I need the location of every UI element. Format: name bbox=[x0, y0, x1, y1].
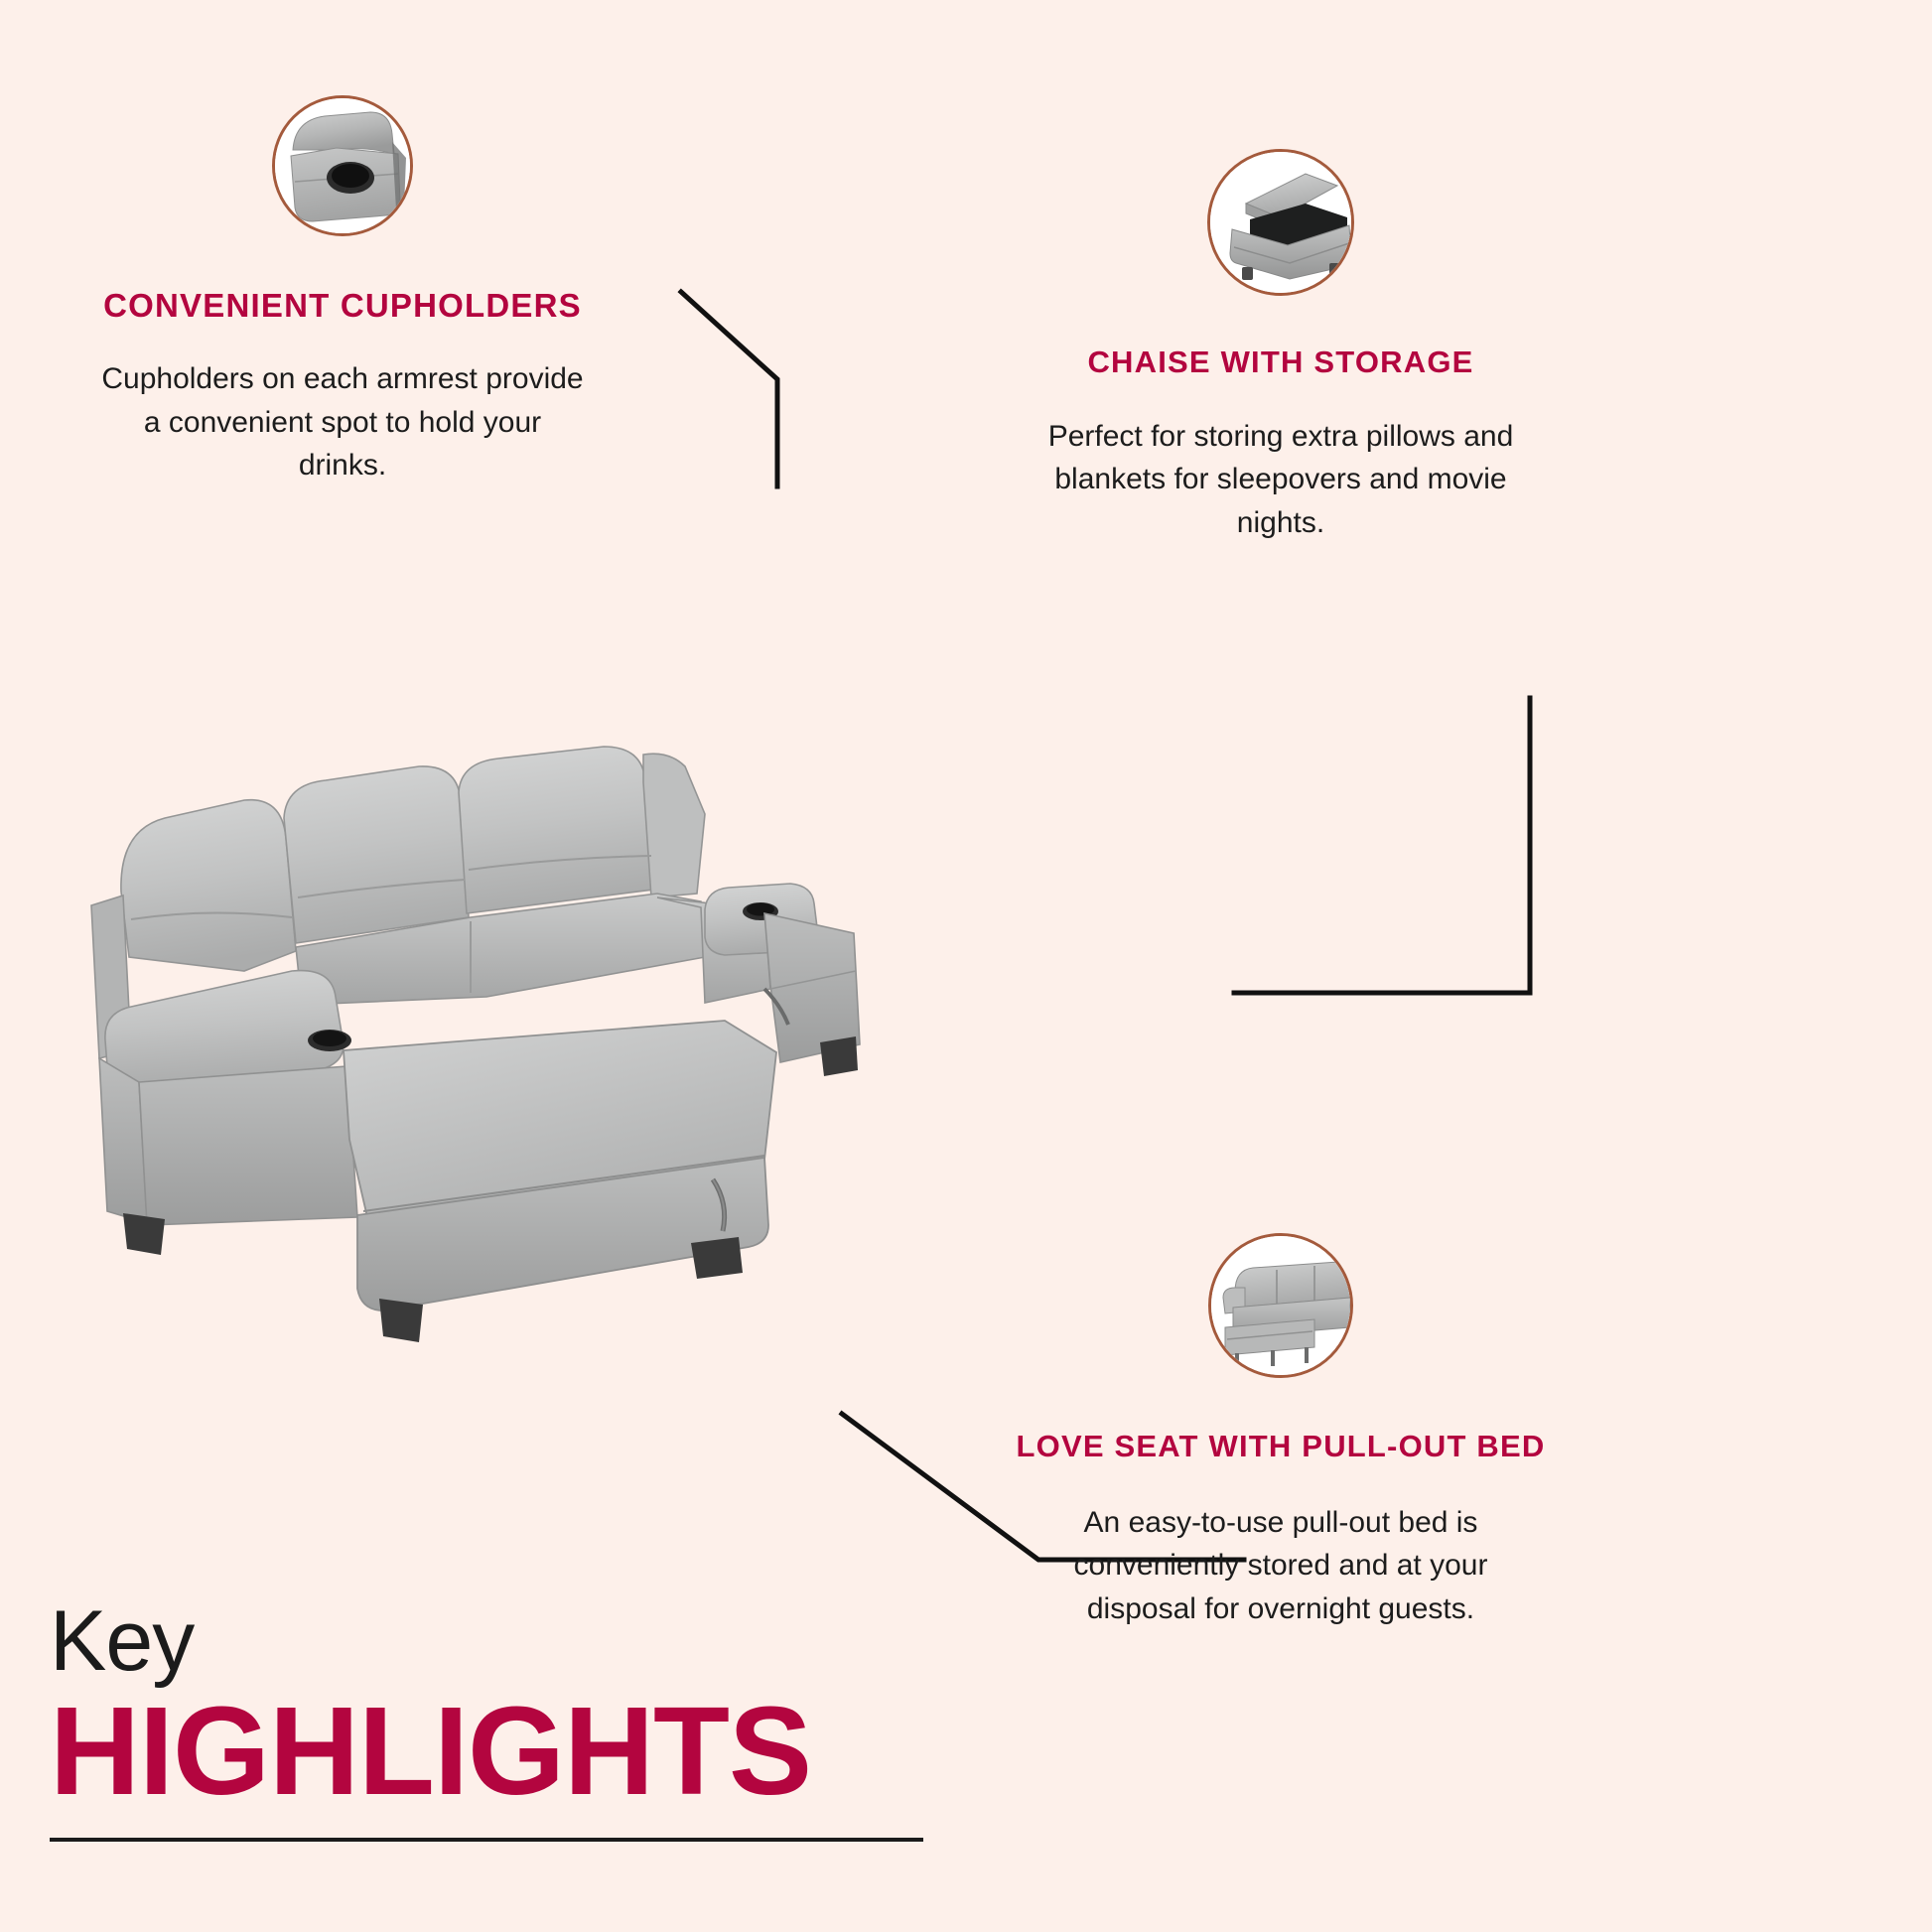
page-title: Key HIGHLIGHTS bbox=[50, 1600, 973, 1842]
infographic-canvas: CONVENIENT CUPHOLDERS Cupholders on each… bbox=[0, 0, 1932, 1932]
feature-body-cupholders: Cupholders on each armrest provide a con… bbox=[60, 357, 625, 487]
feature-body-chaise: Perfect for storing extra pillows and bl… bbox=[1003, 415, 1559, 545]
title-divider bbox=[50, 1838, 923, 1842]
page-title-line-highlights: HIGHLIGHTS bbox=[50, 1689, 973, 1814]
feature-body-pullout: An easy-to-use pull-out bed is convenien… bbox=[1003, 1501, 1559, 1631]
connector-cupholders bbox=[681, 292, 777, 486]
feature-title-cupholders: CONVENIENT CUPHOLDERS bbox=[60, 286, 625, 326]
grey-sectional-sleeper-sofa-image bbox=[69, 723, 983, 1418]
feature-chaise-storage: CHAISE WITH STORAGE Perfect for storing … bbox=[1003, 149, 1559, 544]
chaise-open-storage-icon bbox=[1207, 149, 1354, 296]
feature-title-chaise: CHAISE WITH STORAGE bbox=[1003, 344, 1559, 381]
feature-pullout-bed: LOVE SEAT WITH PULL-OUT BED An easy-to-u… bbox=[1003, 1233, 1559, 1630]
sofa-armrest-cupholder-icon bbox=[272, 95, 413, 236]
page-title-line-key: Key bbox=[50, 1600, 973, 1683]
feature-title-pullout: LOVE SEAT WITH PULL-OUT BED bbox=[1003, 1428, 1559, 1465]
feature-cupholders: CONVENIENT CUPHOLDERS Cupholders on each… bbox=[60, 95, 625, 487]
loveseat-pullout-bed-icon bbox=[1208, 1233, 1353, 1378]
connector-chaise bbox=[1234, 698, 1530, 993]
